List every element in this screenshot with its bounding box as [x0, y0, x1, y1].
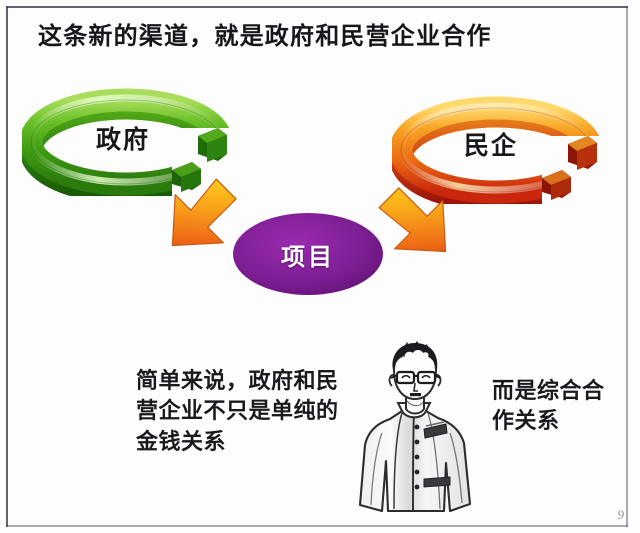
arrow-enterprise-to-project: [378, 178, 478, 274]
center-node-label: 项目: [232, 212, 384, 296]
arrow-down-left-icon: [378, 178, 478, 274]
center-node-project: 项目: [232, 212, 384, 296]
caption-left: 简单来说，政府和民营企业不只是单纯的金钱关系: [136, 366, 346, 457]
ring-private-enterprise-label: 民企: [464, 126, 518, 162]
slide-canvas: 这条新的渠道，就是政府和民营企业合作: [0, 0, 640, 533]
slide-title: 这条新的渠道，就是政府和民营企业合作: [38, 16, 492, 51]
page-number: 9: [618, 507, 625, 523]
caption-right: 而是综合合作关系: [492, 376, 610, 437]
slide-border-right: [626, 6, 628, 527]
slide-border-bottom: [6, 525, 628, 527]
man-with-glasses-illustration: [352, 341, 478, 519]
ring-government-label: 政府: [96, 120, 150, 156]
slide-border-top: [6, 6, 628, 8]
slide-border-left: [6, 6, 8, 527]
person-sketch-icon: [352, 341, 478, 519]
